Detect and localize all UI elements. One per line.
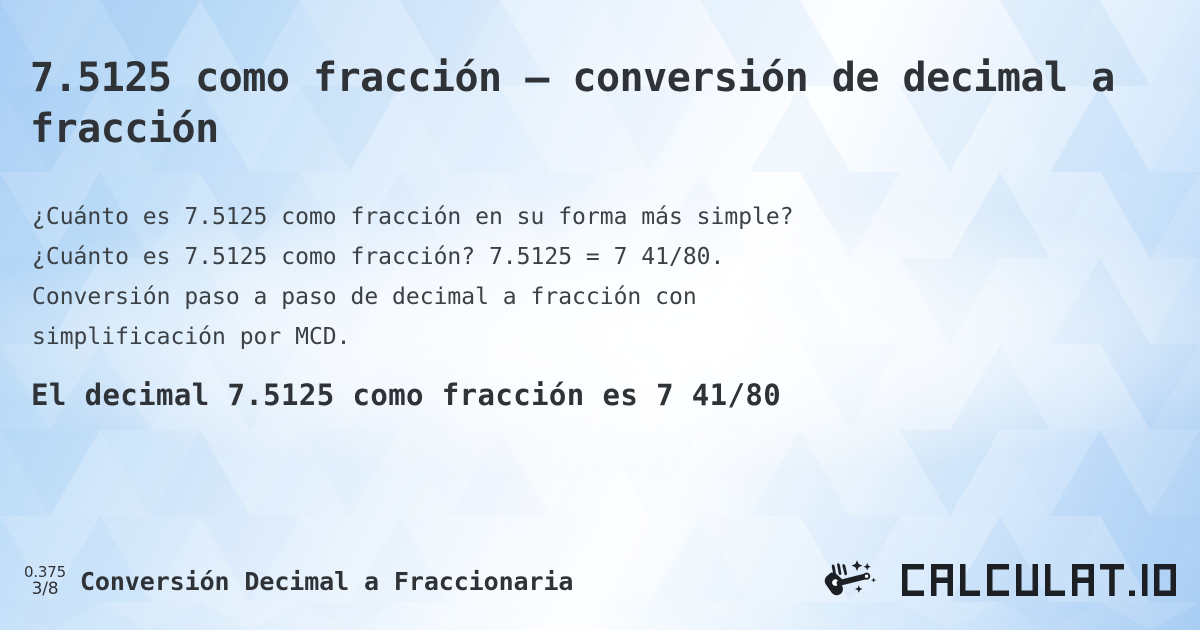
brand-wordmark-svg [900,560,1178,600]
answer-statement: El decimal 7.5125 como fracción es 7 41/… [31,375,1171,415]
badge-decimal-value: 0.375 [24,564,66,581]
decimal-to-fraction-badge-icon: 0.375 3/8 [24,564,66,600]
footer: 0.375 3/8 Conversión Decimal a Fracciona… [0,558,1200,604]
og-card: 7.5125 como fracción – conversión de dec… [0,0,1200,630]
page-description: ¿Cuánto es 7.5125 como fracción en su fo… [32,197,1162,357]
footer-section-title: Conversión Decimal a Fraccionaria [80,567,573,596]
footer-branding-left: 0.375 3/8 Conversión Decimal a Fracciona… [24,558,573,604]
magic-wand-hand-icon [824,558,896,602]
page-title: 7.5125 como fracción – conversión de dec… [30,53,1170,155]
brand-wordmark [900,560,1178,600]
badge-fraction-value: 3/8 [24,580,66,599]
card-content: 7.5125 como fracción – conversión de dec… [0,0,1200,630]
brand-logo[interactable] [824,557,1178,603]
